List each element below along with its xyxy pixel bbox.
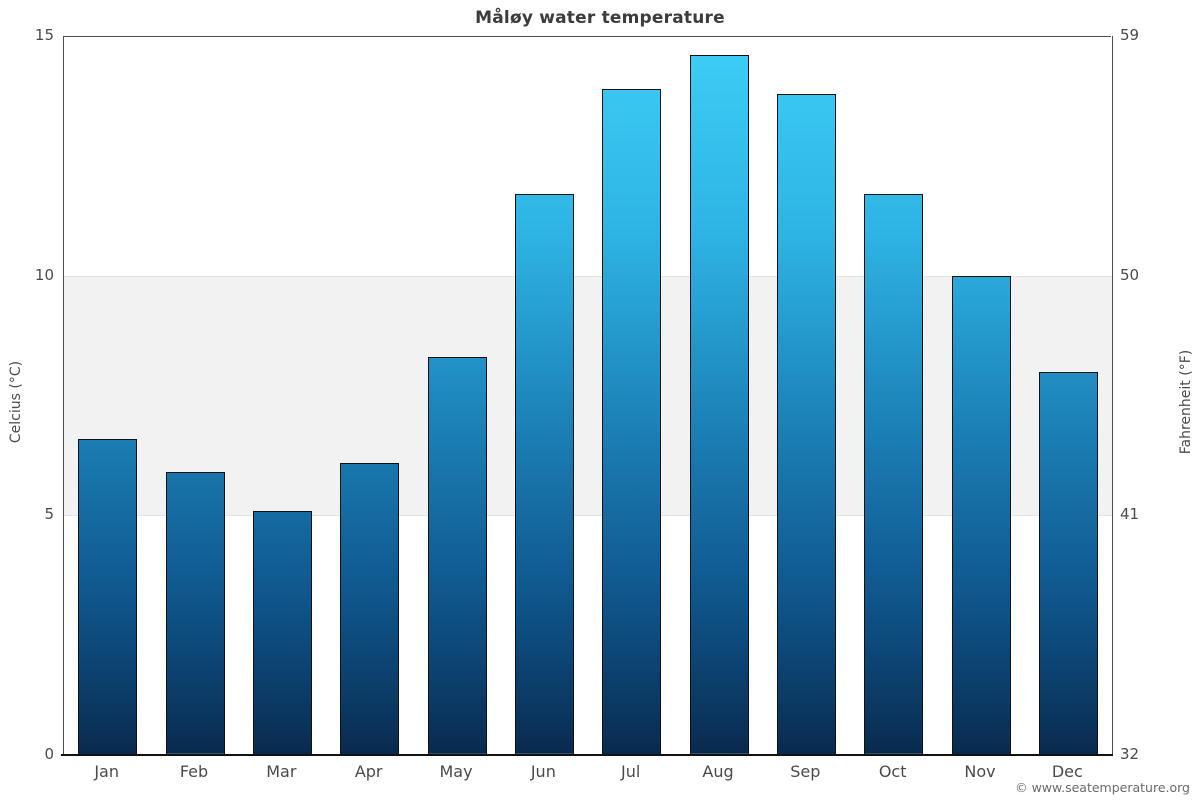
x-tick-may: May — [411, 762, 501, 781]
bars-layer — [64, 36, 1112, 755]
y-axis-right-title: Fahrenheit (°F) — [1178, 322, 1194, 482]
y-tick-left-5: 5 — [14, 505, 54, 523]
y-tick-left-15: 15 — [14, 26, 54, 44]
bar-mar — [253, 511, 312, 755]
bar-dec — [1039, 372, 1098, 755]
x-tick-aug: Aug — [673, 762, 763, 781]
water-temperature-chart: Måløy water temperature 051015 32415059 … — [0, 0, 1200, 800]
x-tick-apr: Apr — [324, 762, 414, 781]
y-tick-left-0: 0 — [14, 745, 54, 763]
x-tick-dec: Dec — [1022, 762, 1112, 781]
x-tick-feb: Feb — [149, 762, 239, 781]
y-tick-right-59: 59 — [1120, 26, 1139, 44]
y-tick-left-10: 10 — [14, 266, 54, 284]
bar-oct — [864, 194, 923, 755]
x-axis-line — [61, 754, 1113, 756]
y-tick-right-41: 41 — [1120, 505, 1139, 523]
y-axis-left-title: Celcius (°C) — [8, 322, 24, 482]
x-tick-sep: Sep — [760, 762, 850, 781]
x-tick-jun: Jun — [498, 762, 588, 781]
x-tick-mar: Mar — [236, 762, 326, 781]
y-tick-right-50: 50 — [1120, 266, 1139, 284]
x-tick-jan: Jan — [62, 762, 152, 781]
bar-nov — [952, 276, 1011, 755]
plot-area — [63, 36, 1113, 755]
y-axis-right-ticks: 32415059 — [1120, 0, 1180, 800]
x-tick-oct: Oct — [848, 762, 938, 781]
bar-feb — [166, 472, 225, 755]
bar-jun — [515, 194, 574, 755]
plot-top-border — [63, 36, 1111, 37]
copyright-credit: © www.seatemperature.org — [1015, 780, 1190, 795]
bar-apr — [340, 463, 399, 755]
bar-aug — [690, 55, 749, 755]
chart-title: Måløy water temperature — [0, 8, 1200, 28]
bar-jul — [602, 89, 661, 755]
y-tick-right-32: 32 — [1120, 745, 1139, 763]
x-tick-jul: Jul — [586, 762, 676, 781]
x-tick-nov: Nov — [935, 762, 1025, 781]
bar-may — [428, 357, 487, 755]
bar-sep — [777, 94, 836, 755]
bar-jan — [78, 439, 137, 755]
